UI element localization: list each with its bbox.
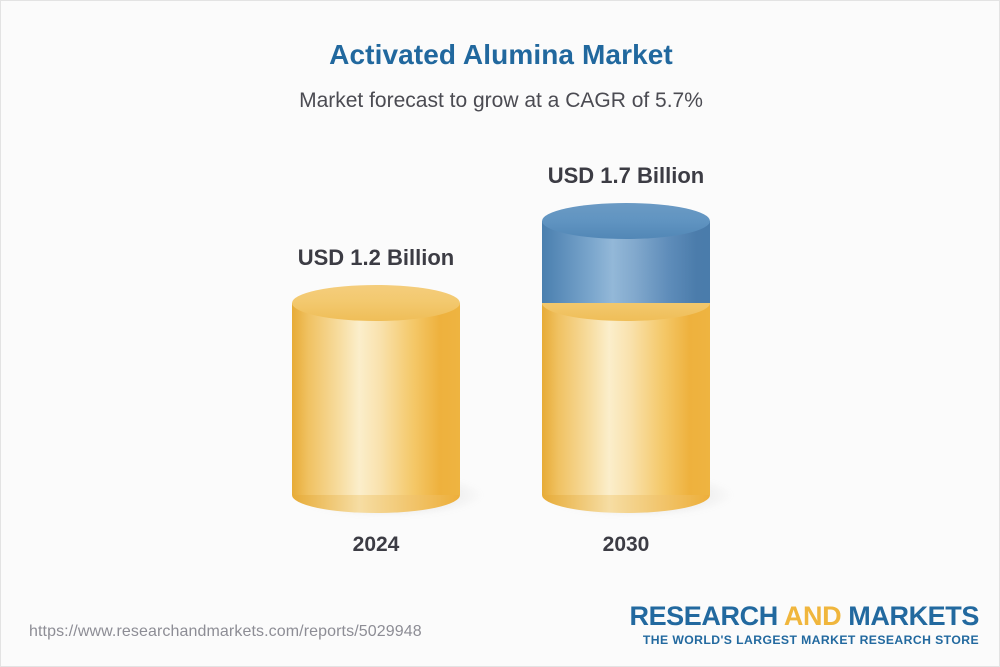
cylinder-body [292, 303, 460, 495]
chart-canvas: Activated Alumina Market Market forecast… [0, 0, 1000, 667]
cylinder-segment-blue [542, 203, 710, 321]
category-label-2024: 2024 [292, 533, 460, 557]
value-label-2024: USD 1.2 Billion [292, 245, 460, 271]
bar-group-2024: USD 1.2 Billion 2024 [292, 1, 460, 601]
brand-logo[interactable]: RESEARCH AND MARKETS THE WORLD'S LARGEST… [629, 602, 979, 647]
logo-wordmark: RESEARCH AND MARKETS [629, 602, 979, 630]
cylinder-segment-yellow [292, 285, 460, 513]
logo-text-research: RESEARCH [629, 601, 783, 631]
bar-group-2030: USD 1.7 Billion 2030 [542, 1, 710, 601]
cylinder-body [542, 303, 710, 495]
category-label-2030: 2030 [542, 533, 710, 557]
logo-text-and: AND [784, 601, 841, 631]
cylinder-2030[interactable] [542, 203, 710, 515]
report-url[interactable]: https://www.researchandmarkets.com/repor… [29, 623, 422, 641]
logo-tagline: THE WORLD'S LARGEST MARKET RESEARCH STOR… [629, 633, 979, 647]
plot-area: USD 1.2 Billion 2024 USD 1.7 Billion [1, 1, 1000, 601]
value-label-2030: USD 1.7 Billion [542, 163, 710, 189]
cylinder-top-ellipse [292, 285, 460, 321]
cylinder-top-ellipse [542, 203, 710, 239]
cylinder-2024[interactable] [292, 285, 460, 515]
logo-text-markets: MARKETS [841, 601, 979, 631]
